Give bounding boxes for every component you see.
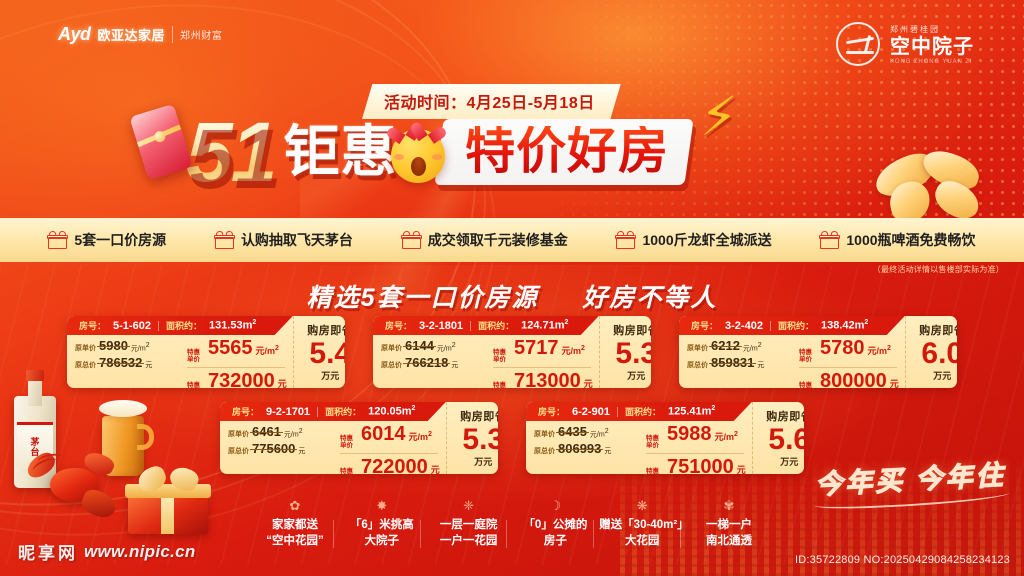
- price-divider: [646, 453, 744, 454]
- discount-total-price-label: 特惠总价: [646, 469, 664, 474]
- watermark-char: 昵: [18, 539, 35, 564]
- original-unit-price-row: 原单价 6435 元/m2: [534, 424, 640, 439]
- price-card-main: 房号： 3-2-1801 面积约： 124.71m2 原单价 6144 元/m2: [373, 316, 599, 388]
- original-price-column: 原单价 6144 元/m2 原总价 766218 元: [381, 338, 487, 388]
- savings-panel: 购房即省 5.3 万元: [599, 316, 651, 388]
- area-label: 面积约：: [325, 405, 361, 418]
- original-total-price-row: 原总价 775600 元: [228, 441, 334, 456]
- benefits-strip: 5套一口价房源 认购抽取飞天茅台 成交领取千元装修基金 1000斤龙虾全城派送 …: [0, 218, 1024, 262]
- logo-divider: [172, 26, 173, 43]
- gift-package-icon: [128, 470, 208, 534]
- area-value: 124.71m2: [521, 319, 568, 332]
- discount-total-price-value: 713000: [514, 371, 581, 388]
- discount-unit-price-row: 特惠单价 5780 元/m2: [799, 338, 899, 364]
- original-unit-price-value: 6144: [405, 338, 434, 353]
- savings-value: 5.4: [309, 338, 345, 370]
- flower-icon: ✿: [288, 498, 303, 513]
- project-logo-text: 郑州碧桂园 空中院子 KONG ZHONG YUAN ZI: [890, 24, 974, 65]
- price-card-main: 房号： 6-2-901 面积约： 125.41m2 原单价 6435 元/m2: [526, 402, 752, 474]
- room-no-value: 3-2-402: [725, 320, 763, 332]
- discount-unit-price-row: 特惠单价 6014 元/m2: [340, 424, 440, 450]
- discount-unit-price-value: 5565: [208, 338, 253, 358]
- discount-unit-suffix: 元/m2: [409, 430, 432, 443]
- savings-panel: 购房即省 5.4 万元: [293, 316, 345, 388]
- savings-unit: 万元: [780, 455, 798, 468]
- hero-title: 51 钜惠 特价好房: [130, 104, 689, 200]
- discount-unit-price-value: 5717: [514, 338, 559, 358]
- discount-price-column: 特惠单价 5717 元/m2 特惠总价 713000 元: [493, 338, 593, 388]
- discount-unit-suffix: 元/m2: [715, 430, 738, 443]
- emoji-cheek-left: [394, 154, 404, 160]
- room-no-value: 3-2-1801: [419, 320, 463, 332]
- price-card[interactable]: 房号： 6-2-901 面积约： 125.41m2 原单价 6435 元/m2: [526, 402, 804, 474]
- discount-unit-price-label: 特惠单价: [340, 436, 358, 450]
- savings-value: 5.6: [768, 424, 804, 456]
- original-total-price-label: 原总价: [75, 360, 96, 370]
- original-unit-suffix: 元/m2: [437, 342, 456, 353]
- original-unit-price-value: 6212: [711, 338, 740, 353]
- discount-total-suffix: 元: [737, 463, 746, 474]
- feature-line-1: 「0」公摊的: [512, 518, 598, 534]
- room-no-value: 5-1-602: [113, 320, 151, 332]
- savings-unit: 万元: [474, 455, 492, 468]
- discount-total-price-row: 特惠总价 722000 元: [340, 457, 440, 474]
- brand-logo-mark: Ayd: [58, 24, 91, 45]
- asset-id-text: ID:35722809 NO:20250429084258234123: [795, 554, 1010, 566]
- gift-box-icon: [402, 232, 421, 249]
- price-card[interactable]: 房号： 5-1-602 面积约： 131.53m2 原单价 5980 元/m2: [67, 316, 345, 388]
- feature-line-1: 一梯一户: [686, 518, 772, 534]
- hero-number: 51: [186, 110, 281, 194]
- original-total-price-label: 原总价: [381, 360, 402, 370]
- ribbon-loop-d: [929, 176, 984, 224]
- original-total-price-value: 859831: [711, 355, 754, 370]
- original-unit-suffix: 元/m2: [131, 342, 150, 353]
- price-card[interactable]: 房号： 3-2-402 面积约： 138.42m2 原单价 6212 元/m2: [679, 316, 957, 388]
- price-divider: [340, 453, 438, 454]
- original-unit-price-label: 原单价: [228, 429, 249, 439]
- area-value: 131.53m2: [209, 319, 256, 332]
- original-total-price-label: 原总价: [534, 446, 555, 456]
- discount-unit-price-label: 特惠单价: [187, 350, 205, 364]
- original-total-price-row: 原总价 859831 元: [687, 355, 793, 370]
- benefit-label: 1000斤龙虾全城派送: [642, 230, 771, 250]
- benefit-item: 成交领取千元装修基金: [402, 230, 568, 250]
- project-pinyin: KONG ZHONG YUAN ZI: [890, 59, 974, 65]
- area-label: 面积约：: [778, 319, 814, 332]
- original-unit-price-row: 原单价 6144 元/m2: [381, 338, 487, 353]
- savings-value: 6.0: [921, 338, 957, 370]
- snowflake-icon: ❋: [635, 498, 650, 513]
- gift-box-icon: [616, 232, 635, 249]
- discount-total-suffix: 元: [890, 377, 899, 388]
- discount-price-column: 特惠单价 6014 元/m2 特惠总价 722000 元: [340, 424, 440, 474]
- poster-canvas: Ayd 欧亚达家居 郑州财富 郑州碧桂园 空中院子 KONG ZHONG YUA…: [0, 0, 1024, 576]
- header-separator: [770, 321, 771, 331]
- original-unit-price-label: 原单价: [687, 343, 708, 353]
- discount-total-price-value: 751000: [667, 457, 734, 474]
- emoji-mouth: [411, 157, 426, 176]
- original-total-suffix: 元: [451, 360, 458, 370]
- lobster-icon: [28, 452, 124, 536]
- room-no-label: 房号：: [691, 319, 718, 332]
- price-card-main: 房号： 5-1-602 面积约： 131.53m2 原单价 5980 元/m2: [67, 316, 293, 388]
- savings-label: 购房即省: [766, 408, 804, 424]
- benefit-item: 1000瓶啤酒免费畅饮: [820, 230, 975, 250]
- header-separator: [470, 321, 471, 331]
- savings-unit: 万元: [321, 369, 339, 382]
- benefit-item: 认购抽取飞天茅台: [215, 230, 353, 250]
- project-name: 空中院子: [890, 36, 974, 58]
- original-unit-suffix: 元/m2: [743, 342, 762, 353]
- discount-unit-price-value: 5988: [667, 424, 712, 444]
- site-watermark: 昵 享 网 www.nipic.cn: [18, 539, 196, 564]
- feature-line-2: “空中花园”: [252, 534, 338, 550]
- discount-unit-price-row: 特惠单价 5988 元/m2: [646, 424, 746, 450]
- savings-panel: 购房即省 5.3 万元: [446, 402, 498, 474]
- emoji-heart-right-icon: [417, 116, 442, 140]
- original-unit-price-label: 原单价: [381, 343, 402, 353]
- savings-label: 购房即省: [919, 322, 957, 338]
- price-card-main: 房号： 3-2-402 面积约： 138.42m2 原单价 6212 元/m2: [679, 316, 905, 388]
- benefit-label: 认购抽取飞天茅台: [241, 230, 353, 250]
- discount-unit-price-label: 特惠单价: [799, 350, 817, 364]
- discount-total-price-value: 722000: [361, 457, 428, 474]
- room-no-label: 房号：: [79, 319, 106, 332]
- feature-line-2: 南北通透: [686, 534, 772, 550]
- sun-icon: ✸: [374, 498, 389, 513]
- feature-item: ❋ 赠送「30-40m²」 大花园: [599, 498, 685, 549]
- discount-total-suffix: 元: [278, 377, 287, 388]
- header-separator: [158, 321, 159, 331]
- original-total-price-label: 原总价: [228, 446, 249, 456]
- ribbon-loop-a: [870, 148, 940, 203]
- price-card-body: 原单价 5980 元/m2 原总价 786532 元: [67, 335, 293, 388]
- feature-line-1: 赠送「30-40m²」: [599, 518, 685, 534]
- price-card-body: 原单价 6212 元/m2 原总价 859831 元: [679, 335, 905, 388]
- feature-line-2: 房子: [512, 534, 598, 550]
- feature-line-1: 「6」米挑高: [339, 518, 425, 534]
- discount-total-price-label: 特惠总价: [799, 383, 817, 388]
- hero-word-red: 特价好房: [466, 126, 670, 176]
- original-price-column: 原单价 6461 元/m2 原总价 775600 元: [228, 424, 334, 474]
- discount-total-price-label: 特惠总价: [493, 383, 511, 388]
- original-total-price-row: 原总价 766218 元: [381, 355, 487, 370]
- savings-label: 购房即省: [460, 408, 498, 424]
- original-total-price-label: 原总价: [687, 360, 708, 370]
- price-divider: [187, 367, 285, 368]
- gift-box-icon: [215, 232, 234, 249]
- benefit-label: 5套一口价房源: [74, 230, 166, 250]
- brand-logo-sub: 郑州财富: [180, 27, 222, 42]
- discount-unit-suffix: 元/m2: [562, 344, 585, 357]
- original-unit-price-row: 原单价 6212 元/m2: [687, 338, 793, 353]
- discount-unit-suffix: 元/m2: [868, 344, 891, 357]
- price-card[interactable]: 房号： 9-2-1701 面积约： 120.05m2 原单价 6461 元/m2: [220, 402, 498, 474]
- discount-unit-price-label: 特惠单价: [646, 436, 664, 450]
- original-unit-suffix: 元/m2: [284, 428, 303, 439]
- discount-unit-price-row: 特惠单价 5565 元/m2: [187, 338, 287, 364]
- feature-line-1: 一层一庭院: [426, 518, 512, 534]
- savings-value: 5.3: [462, 424, 498, 456]
- area-label: 面积约：: [166, 319, 202, 332]
- price-card-header: 房号： 3-2-1801 面积约： 124.71m2: [373, 316, 599, 335]
- discount-unit-price-value: 6014: [361, 424, 406, 444]
- original-total-price-value: 806993: [558, 441, 601, 456]
- savings-panel: 购房即省 5.6 万元: [752, 402, 804, 474]
- feature-line-2: 一户一花园: [426, 534, 512, 550]
- discount-total-price-label: 特惠总价: [187, 383, 205, 388]
- discount-total-suffix: 元: [584, 377, 593, 388]
- watermark-char: 网: [58, 539, 75, 564]
- leaf-icon: ❈: [461, 498, 476, 513]
- discount-total-price-row: 特惠总价 800000 元: [799, 371, 899, 388]
- feature-item: ✿ 家家都送 “空中花园”: [252, 498, 338, 549]
- savings-panel: 购房即省 6.0 万元: [905, 316, 957, 388]
- benefit-item: 1000斤龙虾全城派送: [616, 230, 771, 250]
- original-unit-price-row: 原单价 5980 元/m2: [75, 338, 181, 353]
- original-unit-price-value: 6435: [558, 424, 587, 439]
- price-card-body: 原单价 6461 元/m2 原总价 775600 元: [220, 421, 446, 474]
- gift-box-icon: [820, 232, 839, 249]
- price-divider: [799, 367, 897, 368]
- price-card-header: 房号： 5-1-602 面积约： 131.53m2: [67, 316, 293, 335]
- area-value: 120.05m2: [368, 405, 415, 418]
- original-total-suffix: 元: [757, 360, 764, 370]
- discount-total-price-label: 特惠总价: [340, 469, 358, 474]
- feature-item: ❈ 一层一庭院 一户一花园: [426, 498, 512, 549]
- header-separator: [317, 407, 318, 417]
- hero-word-white: 钜惠: [283, 124, 397, 180]
- project-developer-name: 郑州碧桂园: [890, 24, 974, 35]
- original-total-suffix: 元: [298, 446, 305, 456]
- benefit-item: 5套一口价房源: [48, 230, 166, 250]
- area-value: 138.42m2: [821, 319, 868, 332]
- original-total-price-value: 766218: [405, 355, 448, 370]
- room-no-value: 6-2-901: [572, 406, 610, 418]
- room-no-label: 房号：: [385, 319, 412, 332]
- discount-total-price-row: 特惠总价 732000 元: [187, 371, 287, 388]
- benefit-label: 1000瓶啤酒免费畅饮: [846, 230, 975, 250]
- benefit-label: 成交领取千元装修基金: [428, 230, 568, 250]
- room-no-value: 9-2-1701: [266, 406, 310, 418]
- feature-item: ✾ 一梯一户 南北通透: [686, 498, 772, 549]
- price-card-row-1: 房号： 5-1-602 面积约： 131.53m2 原单价 5980 元/m2: [0, 316, 1024, 388]
- area-label: 面积约：: [625, 405, 661, 418]
- feature-item: ☽ 「0」公摊的 房子: [512, 498, 598, 549]
- savings-unit: 万元: [933, 369, 951, 382]
- original-total-price-value: 786532: [99, 355, 142, 370]
- section-heading: 精选5套一口价房源 好房不等人: [0, 278, 1024, 314]
- benefits-disclaimer: （最终活动详情以售楼部实际为准）: [873, 264, 1004, 275]
- savings-label: 购房即省: [307, 322, 345, 338]
- price-card-body: 原单价 6435 元/m2 原总价 806993 元: [526, 421, 752, 474]
- original-unit-suffix: 元/m2: [590, 428, 609, 439]
- original-price-column: 原单价 5980 元/m2 原总价 786532 元: [75, 338, 181, 388]
- savings-label: 购房即省: [613, 322, 651, 338]
- discount-unit-suffix: 元/m2: [256, 344, 279, 357]
- watermark-url: www.nipic.cn: [84, 542, 196, 562]
- price-card-header: 房号： 3-2-402 面积约： 138.42m2: [679, 316, 905, 335]
- discount-total-price-row: 特惠总价 751000 元: [646, 457, 746, 474]
- original-unit-price-label: 原单价: [534, 429, 555, 439]
- discount-unit-price-value: 5780: [820, 338, 865, 358]
- area-value: 125.41m2: [668, 405, 715, 418]
- discount-total-suffix: 元: [431, 463, 440, 474]
- original-unit-price-row: 原单价 6461 元/m2: [228, 424, 334, 439]
- discount-price-column: 特惠单价 5988 元/m2 特惠总价 751000 元: [646, 424, 746, 474]
- room-no-label: 房号：: [538, 405, 565, 418]
- watermark-cn: 昵 享 网: [18, 539, 75, 564]
- discount-total-price-value: 732000: [208, 371, 275, 388]
- feature-line-2: 大院子: [339, 534, 425, 550]
- area-label: 面积约：: [478, 319, 514, 332]
- original-total-suffix: 元: [145, 360, 152, 370]
- price-card-body: 原单价 6144 元/m2 原总价 766218 元: [373, 335, 599, 388]
- discount-unit-price-label: 特惠单价: [493, 350, 511, 364]
- original-total-suffix: 元: [604, 446, 611, 456]
- gift-box-icon: [48, 232, 67, 249]
- gold-ribbon-icon: [860, 150, 1000, 220]
- feature-list: ✿ 家家都送 “空中花园” ✸ 「6」米挑高 大院子 ❈ 一层一庭院 一户一花园…: [252, 498, 772, 549]
- feature-item: ✸ 「6」米挑高 大院子: [339, 498, 425, 549]
- project-emblem-icon: [836, 22, 880, 66]
- watermark-char: 享: [38, 539, 55, 564]
- original-total-price-row: 原总价 806993 元: [534, 441, 640, 456]
- price-divider: [493, 367, 591, 368]
- original-total-price-row: 原总价 786532 元: [75, 355, 181, 370]
- room-no-label: 房号：: [232, 405, 259, 418]
- emblem-tick-icon: [864, 35, 871, 53]
- discount-total-price-row: 特惠总价 713000 元: [493, 371, 593, 388]
- moon-icon: ☽: [548, 498, 563, 513]
- original-unit-price-value: 6461: [252, 424, 281, 439]
- brand-logo-right[interactable]: 郑州碧桂园 空中院子 KONG ZHONG YUAN ZI: [836, 22, 974, 66]
- gear-icon: ✾: [721, 498, 736, 513]
- price-card-main: 房号： 9-2-1701 面积约： 120.05m2 原单价 6461 元/m2: [220, 402, 446, 474]
- original-total-price-value: 775600: [252, 441, 295, 456]
- ribbon-loop-b: [918, 146, 983, 194]
- feature-line-1: 家家都送: [252, 518, 338, 534]
- header-separator: [617, 407, 618, 417]
- original-unit-price-label: 原单价: [75, 343, 96, 353]
- discount-unit-price-row: 特惠单价 5717 元/m2: [493, 338, 593, 364]
- discount-price-column: 特惠单价 5780 元/m2 特惠总价 800000 元: [799, 338, 899, 388]
- discount-price-column: 特惠单价 5565 元/m2 特惠总价 732000 元: [187, 338, 287, 388]
- emoji-cheek-right: [432, 154, 442, 160]
- savings-unit: 万元: [627, 369, 645, 382]
- original-price-column: 原单价 6212 元/m2 原总价 859831 元: [687, 338, 793, 388]
- section-heading-right: 好房不等人: [582, 284, 717, 312]
- savings-value: 5.3: [615, 338, 651, 370]
- price-card[interactable]: 房号： 3-2-1801 面积约： 124.71m2 原单价 6144 元/m2: [373, 316, 651, 388]
- discount-total-price-value: 800000: [820, 371, 887, 388]
- price-card-header: 房号： 6-2-901 面积约： 125.41m2: [526, 402, 752, 421]
- original-price-column: 原单价 6435 元/m2 原总价 806993 元: [534, 424, 640, 474]
- original-unit-price-value: 5980: [99, 338, 128, 353]
- red-envelope-icon: [129, 104, 192, 181]
- brand-logo-name: 欧亚达家居: [98, 25, 166, 44]
- feature-line-2: 大花园: [599, 534, 685, 550]
- price-card-header: 房号： 9-2-1701 面积约： 120.05m2: [220, 402, 446, 421]
- hero-word-red-plate: 特价好房: [435, 119, 694, 185]
- brand-logo-left[interactable]: Ayd 欧亚达家居 郑州财富: [58, 24, 222, 45]
- section-heading-left: 精选5套一口价房源: [307, 284, 539, 312]
